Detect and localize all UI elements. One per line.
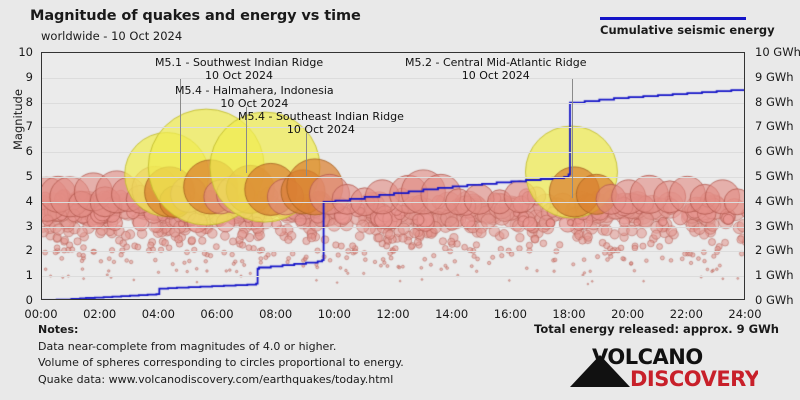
gridline (42, 103, 744, 104)
page-title: Magnitude of quakes and energy vs time (30, 8, 361, 24)
note-line-1: Data near-complete from magnitudes of 4.… (38, 339, 404, 356)
y-tick-label: 1 (7, 268, 33, 282)
y2-tick (744, 102, 745, 104)
y-tick (41, 251, 42, 253)
note-line-2: Volume of spheres corresponding to circl… (38, 355, 404, 372)
y2-tick (744, 151, 745, 153)
y-tick (41, 52, 42, 54)
anno-m51: M5.1 - Southwest Indian Ridge10 Oct 2024 (155, 56, 323, 82)
x-tick-label: 10:00 (307, 307, 361, 321)
y2-tick-label: 2 GWh (755, 243, 800, 257)
y-tick (41, 201, 42, 203)
gridline (42, 251, 744, 252)
y2-tick-label: 10 GWh (755, 45, 800, 59)
annotation-title: M5.1 - Southwest Indian Ridge (155, 56, 323, 69)
annotation-title: M5.2 - Central Mid-Atlantic Ridge (405, 56, 587, 69)
gridline (42, 276, 744, 277)
x-tick (687, 299, 689, 300)
y2-tick-label: 0 GWh (755, 293, 800, 307)
anno-m54-southeast: M5.4 - Southeast Indian Ridge10 Oct 2024 (238, 110, 404, 136)
gridline (42, 78, 744, 79)
x-tick-label: 20:00 (601, 307, 655, 321)
x-tick-label: 18:00 (542, 307, 596, 321)
volcanodiscovery-logo[interactable]: VOLCANO DISCOVERY (568, 345, 758, 391)
y2-tick-label: 5 GWh (755, 169, 800, 183)
x-tick (217, 299, 219, 300)
y2-tick (744, 176, 745, 178)
x-tick (41, 299, 43, 300)
y2-tick (744, 226, 745, 228)
annotation-date: 10 Oct 2024 (405, 69, 587, 82)
annotation-date: 10 Oct 2024 (238, 123, 404, 136)
x-tick (452, 299, 454, 300)
x-tick (100, 299, 102, 300)
y-tick-label: 6 (7, 144, 33, 158)
legend-line-swatch (600, 17, 746, 20)
x-tick (393, 299, 395, 300)
y2-tick (744, 251, 745, 253)
x-tick-label: 04:00 (131, 307, 185, 321)
y-tick-label: 9 (7, 70, 33, 84)
gridline (42, 177, 744, 178)
x-tick (511, 299, 513, 300)
y-tick-label: 5 (7, 169, 33, 183)
y2-tick (744, 127, 745, 129)
y-tick (41, 102, 42, 104)
notes-heading: Notes: (38, 322, 404, 339)
y-tick-label: 3 (7, 219, 33, 233)
gridline (42, 152, 744, 153)
y2-tick (744, 275, 745, 277)
notes-block: Notes: Data near-complete from magnitude… (38, 322, 404, 388)
y-tick (41, 176, 42, 178)
annotation-leader-line (306, 133, 307, 176)
note-line-3: Quake data: www.volcanodiscovery.com/ear… (38, 372, 404, 389)
legend-label-cumulative-energy: Cumulative seismic energy (600, 23, 750, 37)
chart-subtitle: worldwide - 10 Oct 2024 (41, 29, 182, 43)
x-tick-label: 12:00 (366, 307, 420, 321)
annotation-leader-line (572, 79, 573, 198)
gridline (42, 227, 744, 228)
plot-area (41, 52, 745, 300)
total-energy-label: Total energy released: approx. 9 GWh (534, 322, 779, 336)
annotation-date: 10 Oct 2024 (175, 97, 334, 110)
x-tick-label: 14:00 (425, 307, 479, 321)
annotation-date: 10 Oct 2024 (155, 69, 323, 82)
anno-m52: M5.2 - Central Mid-Atlantic Ridge10 Oct … (405, 56, 587, 82)
y-tick (41, 127, 42, 129)
chart-page: Magnitude of quakes and energy vs time w… (0, 0, 800, 400)
y2-tick-label: 8 GWh (755, 95, 800, 109)
x-tick-label: 16:00 (483, 307, 537, 321)
y-tick-label: 8 (7, 95, 33, 109)
y2-tick-label: 6 GWh (755, 144, 800, 158)
y2-tick-label: 3 GWh (755, 219, 800, 233)
x-tick (628, 299, 630, 300)
y2-tick-label: 4 GWh (755, 194, 800, 208)
logo-svg: VOLCANO DISCOVERY (568, 345, 758, 391)
y-tick-label: 7 (7, 119, 33, 133)
gridline (42, 202, 744, 203)
y-tick (41, 226, 42, 228)
x-tick-label: 02:00 (73, 307, 127, 321)
x-tick-label: 24:00 (718, 307, 772, 321)
x-tick-label: 06:00 (190, 307, 244, 321)
y2-tick (744, 52, 745, 54)
y2-tick-label: 1 GWh (755, 268, 800, 282)
x-tick (159, 299, 161, 300)
x-tick (569, 299, 571, 300)
y2-tick (744, 77, 745, 79)
y2-tick-label: 9 GWh (755, 70, 800, 84)
y-tick-label: 0 (7, 293, 33, 307)
x-tick-label: 00:00 (14, 307, 68, 321)
x-tick-label: 22:00 (659, 307, 713, 321)
y-tick-label: 4 (7, 194, 33, 208)
logo-secondary-text: DISCOVERY (630, 367, 758, 391)
anno-m54-halmahera: M5.4 - Halmahera, Indonesia10 Oct 2024 (175, 84, 334, 110)
x-tick (335, 299, 337, 300)
x-tick (276, 299, 278, 300)
x-tick-label: 08:00 (249, 307, 303, 321)
y2-tick-label: 7 GWh (755, 119, 800, 133)
y-tick-label: 2 (7, 243, 33, 257)
annotation-title: M5.4 - Southeast Indian Ridge (238, 110, 404, 123)
annotation-title: M5.4 - Halmahera, Indonesia (175, 84, 334, 97)
y2-tick (744, 201, 745, 203)
y-tick (41, 275, 42, 277)
y-tick-label: 10 (7, 45, 33, 59)
y-tick (41, 77, 42, 79)
